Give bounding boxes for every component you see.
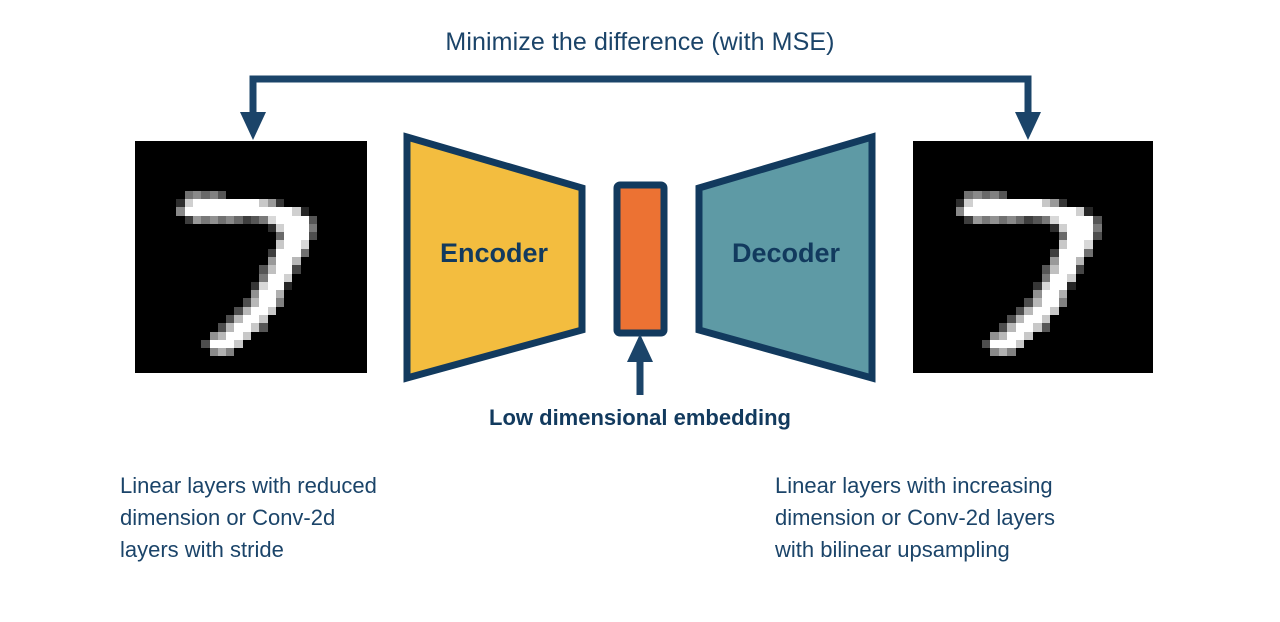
- page-title: Minimize the difference (with MSE): [0, 28, 1280, 57]
- decoder-description-line-2: dimension or Conv-2d layers: [775, 502, 1155, 534]
- autoencoder-diagram: Minimize the difference (with MSE): [0, 0, 1280, 622]
- output-image: [913, 141, 1153, 373]
- encoder-label: Encoder: [424, 238, 564, 269]
- input-digit-pixels: [135, 141, 367, 373]
- output-digit-pixels: [913, 141, 1153, 373]
- decoder-description-line-1: Linear layers with increasing: [775, 470, 1155, 502]
- decoder-description-line-3: with bilinear upsampling: [775, 534, 1155, 566]
- input-image: [135, 141, 367, 373]
- decoder-label: Decoder: [712, 238, 860, 269]
- mse-bracket-arrow: [240, 79, 1041, 140]
- embedding-pointer-arrow: [627, 334, 653, 395]
- encoder-description: Linear layers with reduced dimension or …: [120, 470, 480, 566]
- embedding-caption: Low dimensional embedding: [0, 405, 1280, 431]
- encoder-description-line-3: layers with stride: [120, 534, 480, 566]
- embedding-block[interactable]: [617, 185, 664, 333]
- decoder-description: Linear layers with increasing dimension …: [775, 470, 1155, 566]
- encoder-description-line-2: dimension or Conv-2d: [120, 502, 480, 534]
- encoder-description-line-1: Linear layers with reduced: [120, 470, 480, 502]
